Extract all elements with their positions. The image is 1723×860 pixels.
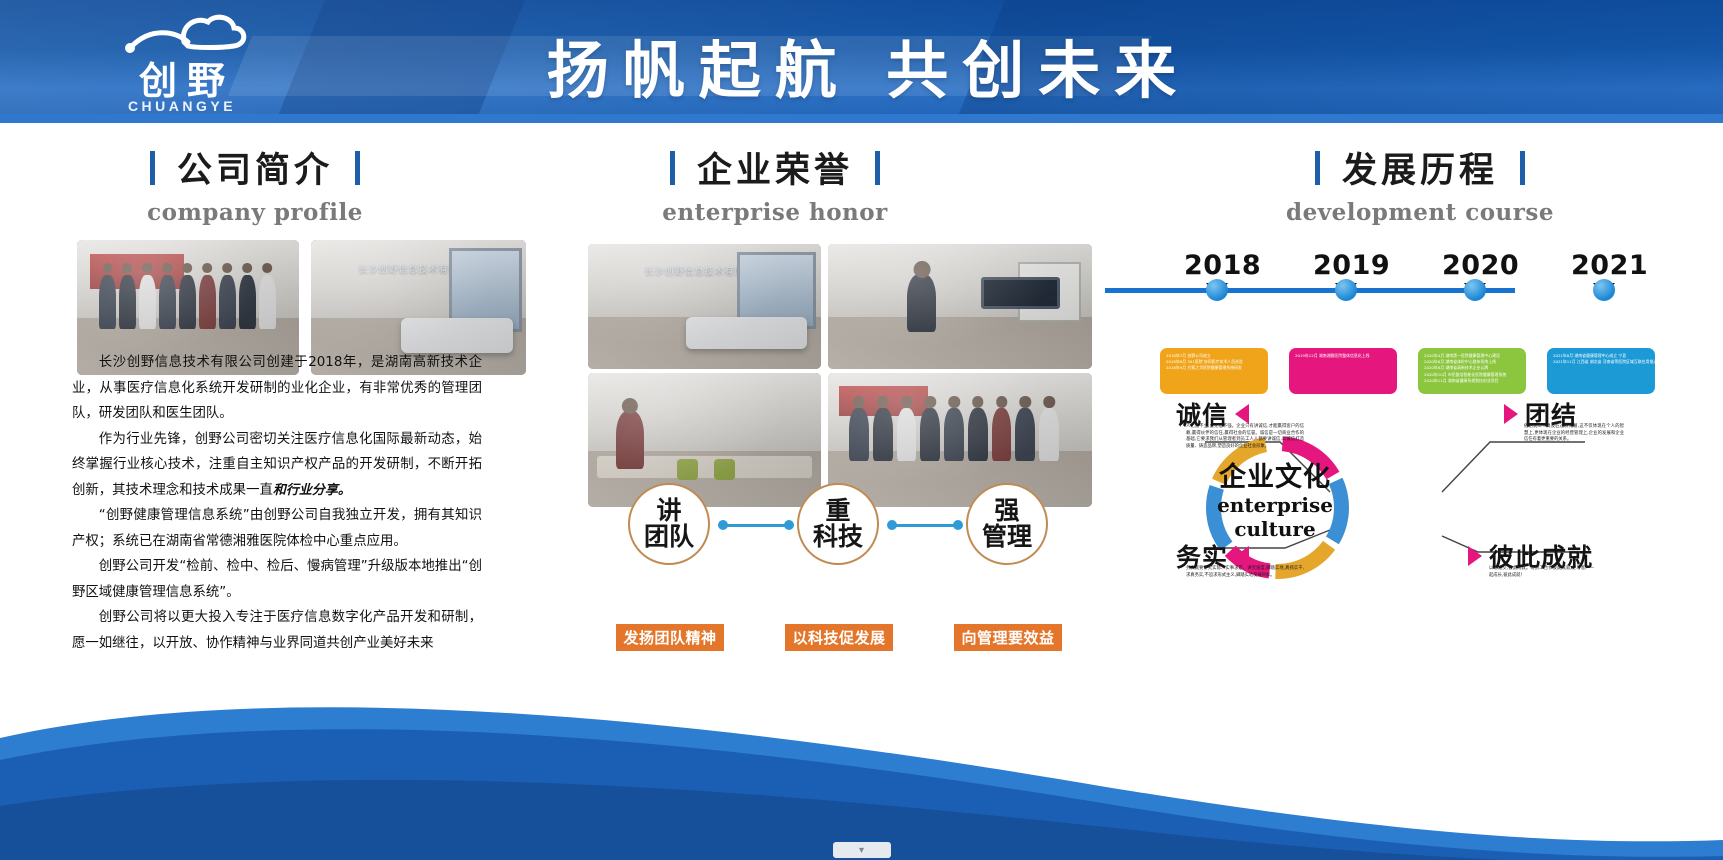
culture-center-label: 企业文化 enterprise culture bbox=[1200, 455, 1350, 541]
section-title-en: company profile bbox=[100, 199, 410, 226]
heading-bar-left bbox=[670, 151, 675, 185]
culture-desc-integrity: 人无信不立,企无信不强。企业只有讲诚信,才能赢得客户的信赖,赢得伙伴的信任,赢得… bbox=[1186, 424, 1304, 450]
team-connector-1 bbox=[723, 524, 789, 527]
team-connector-dot-1 bbox=[718, 520, 728, 530]
culture-center-en-1: enterprise bbox=[1200, 494, 1350, 518]
timeline-line bbox=[1105, 288, 1515, 293]
team-connector-dot-4 bbox=[953, 520, 963, 530]
timeline-node-2021 bbox=[1593, 279, 1615, 301]
team-circle-1: 讲团队 bbox=[628, 483, 710, 565]
timeline-card-2019: 2019年12月 湖南湘雅医院整体信息化上线 bbox=[1289, 348, 1397, 394]
profile-paragraph-2: 作为行业先锋，创野公司密切关注医疗信息化国际最新动态，始终掌握行业核心技术，注重… bbox=[72, 427, 482, 504]
section-title-cn: 企业荣誉 bbox=[697, 142, 853, 193]
culture-desc-pragmatism: 务实就要讲究实际、实事求是、讲究速度,脚踏实地,真抓实干,求真务实,不追求形式主… bbox=[1186, 566, 1304, 579]
section-title-cn: 公司简介 bbox=[177, 142, 333, 193]
team-circle-3: 强管理 bbox=[966, 483, 1048, 565]
culture-wall-poster: 创野 CHUANGYE 扬帆起航 共创未来 公司简介 company profi… bbox=[0, 0, 1723, 860]
team-connector-dot-3 bbox=[887, 520, 897, 530]
timeline-node-2020 bbox=[1464, 279, 1486, 301]
photo-honor-4 bbox=[828, 373, 1092, 507]
profile-paragraph-4: 创野公司开发“检前、检中、检后、慢病管理”升级版本地推出“创野区域健康管理信息系… bbox=[72, 554, 482, 605]
handwritten-note: 和行业分享。 bbox=[273, 483, 351, 498]
team-connector-dot-2 bbox=[784, 520, 794, 530]
profile-paragraph-1: 长沙创野信息技术有限公司创建于2018年，是湖南高新技术企业，从事医疗信息化系统… bbox=[72, 350, 482, 427]
footer-wave-decoration bbox=[0, 610, 1723, 860]
photo-honor-1: 长沙创野信息技术有限公司 bbox=[588, 244, 821, 369]
profile-paragraph-3: “创野健康管理信息系统”由创野公司自我独立开发，拥有其知识产权；系统已在湖南省常… bbox=[72, 503, 482, 554]
heading-bar-right bbox=[1520, 151, 1525, 185]
culture-desc-unity: 俗话说三个臭皮匠过赛诸葛,这不仅体现在个人的智慧上,更体现在企业的经营管理上,企… bbox=[1524, 424, 1624, 444]
photo-honor-3 bbox=[588, 373, 821, 507]
heading-bar-right bbox=[875, 151, 880, 185]
timeline-card-2020: 2020年4月 湖南第一医院健康管理中心建设 2020年6月 湖南省体检中心整体… bbox=[1418, 348, 1526, 394]
poster-main-title: 扬帆起航 共创未来 bbox=[0, 20, 1723, 110]
culture-arrow-mutual-icon bbox=[1468, 546, 1482, 566]
culture-arrow-integrity-icon bbox=[1235, 404, 1249, 424]
culture-center-cn: 企业文化 bbox=[1200, 455, 1350, 494]
chevron-down-icon[interactable]: ▾ bbox=[833, 842, 891, 858]
section-heading-development-course: 发展历程 development course bbox=[1255, 142, 1585, 226]
timeline-card-2018: 2018年7月 创野公司成立 2018年8月 301医院 协同医疗技术人员进驻 … bbox=[1160, 348, 1268, 394]
timeline-year-2021: 2021 bbox=[1571, 250, 1648, 281]
heading-bar-right bbox=[355, 151, 360, 185]
timeline-card-2021: 2021年8月 湖南省健康管理中心成立 宁夏 2021年11月 江西省 湖北省 … bbox=[1547, 348, 1655, 394]
timeline-year-2018: 2018 bbox=[1184, 250, 1261, 281]
section-title-cn: 发展历程 bbox=[1342, 142, 1498, 193]
team-connector-2 bbox=[892, 524, 958, 527]
section-title-en: enterprise honor bbox=[620, 199, 930, 226]
section-heading-enterprise-honor: 企业荣誉 enterprise honor bbox=[620, 142, 930, 226]
timeline-node-2018 bbox=[1206, 279, 1228, 301]
heading-bar-left bbox=[150, 151, 155, 185]
team-circle-2: 重科技 bbox=[797, 483, 879, 565]
culture-arrow-unity-icon bbox=[1504, 404, 1518, 424]
timeline-year-2020: 2020 bbox=[1442, 250, 1519, 281]
timeline-node-2019 bbox=[1335, 279, 1357, 301]
culture-arrow-pragmatism-icon bbox=[1235, 546, 1249, 566]
header-banner: 创野 CHUANGYE 扬帆起航 共创未来 bbox=[0, 0, 1723, 123]
timeline-year-2019: 2019 bbox=[1313, 250, 1390, 281]
section-title-en: development course bbox=[1255, 199, 1585, 226]
section-heading-company-profile: 公司简介 company profile bbox=[100, 142, 410, 226]
culture-desc-mutual-achievement: 以心相交,彼此成就。与员工合作彼此成就,更与客户一起成长,彼此成就! bbox=[1489, 566, 1594, 579]
heading-bar-left bbox=[1315, 151, 1320, 185]
photo-honor-2 bbox=[828, 244, 1092, 369]
